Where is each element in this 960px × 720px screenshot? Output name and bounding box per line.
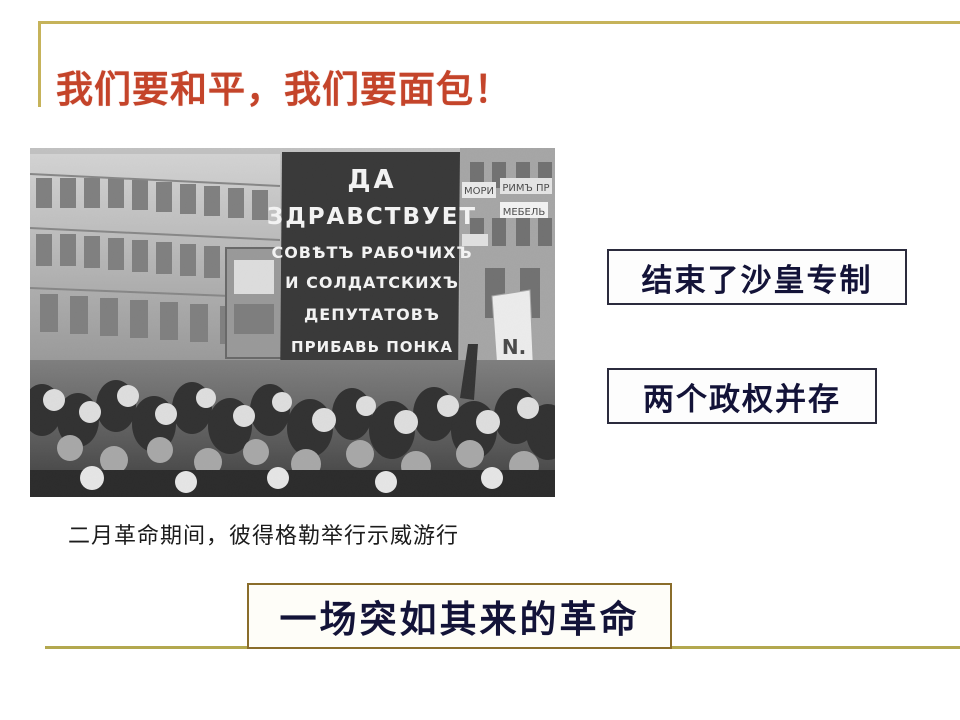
frame-top-rule [38,21,960,24]
frame-left-rule [38,21,41,107]
bottom-emphasis-banner: 一场突如其来的革命 [247,583,672,649]
slide-canvas: 我们要和平，我们要面包！ [0,0,960,720]
photo-frame: МОРИ РИМЪ ПР МЕБЕЛЬ ДА ЗДРА [30,148,555,497]
callout-box-end-of-tsarist-autocracy: 结束了沙皇专制 [607,249,907,305]
historical-photograph: МОРИ РИМЪ ПР МЕБЕЛЬ ДА ЗДРА [30,148,555,497]
callout-label: 两个政权并存 [643,374,841,419]
slide-headline: 我们要和平，我们要面包！ [56,70,512,111]
callout-box-dual-power: 两个政权并存 [607,368,877,424]
photo-caption: 二月革命期间，彼得格勒举行示威游行 [68,518,459,550]
callout-label: 结束了沙皇专制 [642,255,873,300]
banner-label: 一场突如其来的革命 [280,589,640,643]
